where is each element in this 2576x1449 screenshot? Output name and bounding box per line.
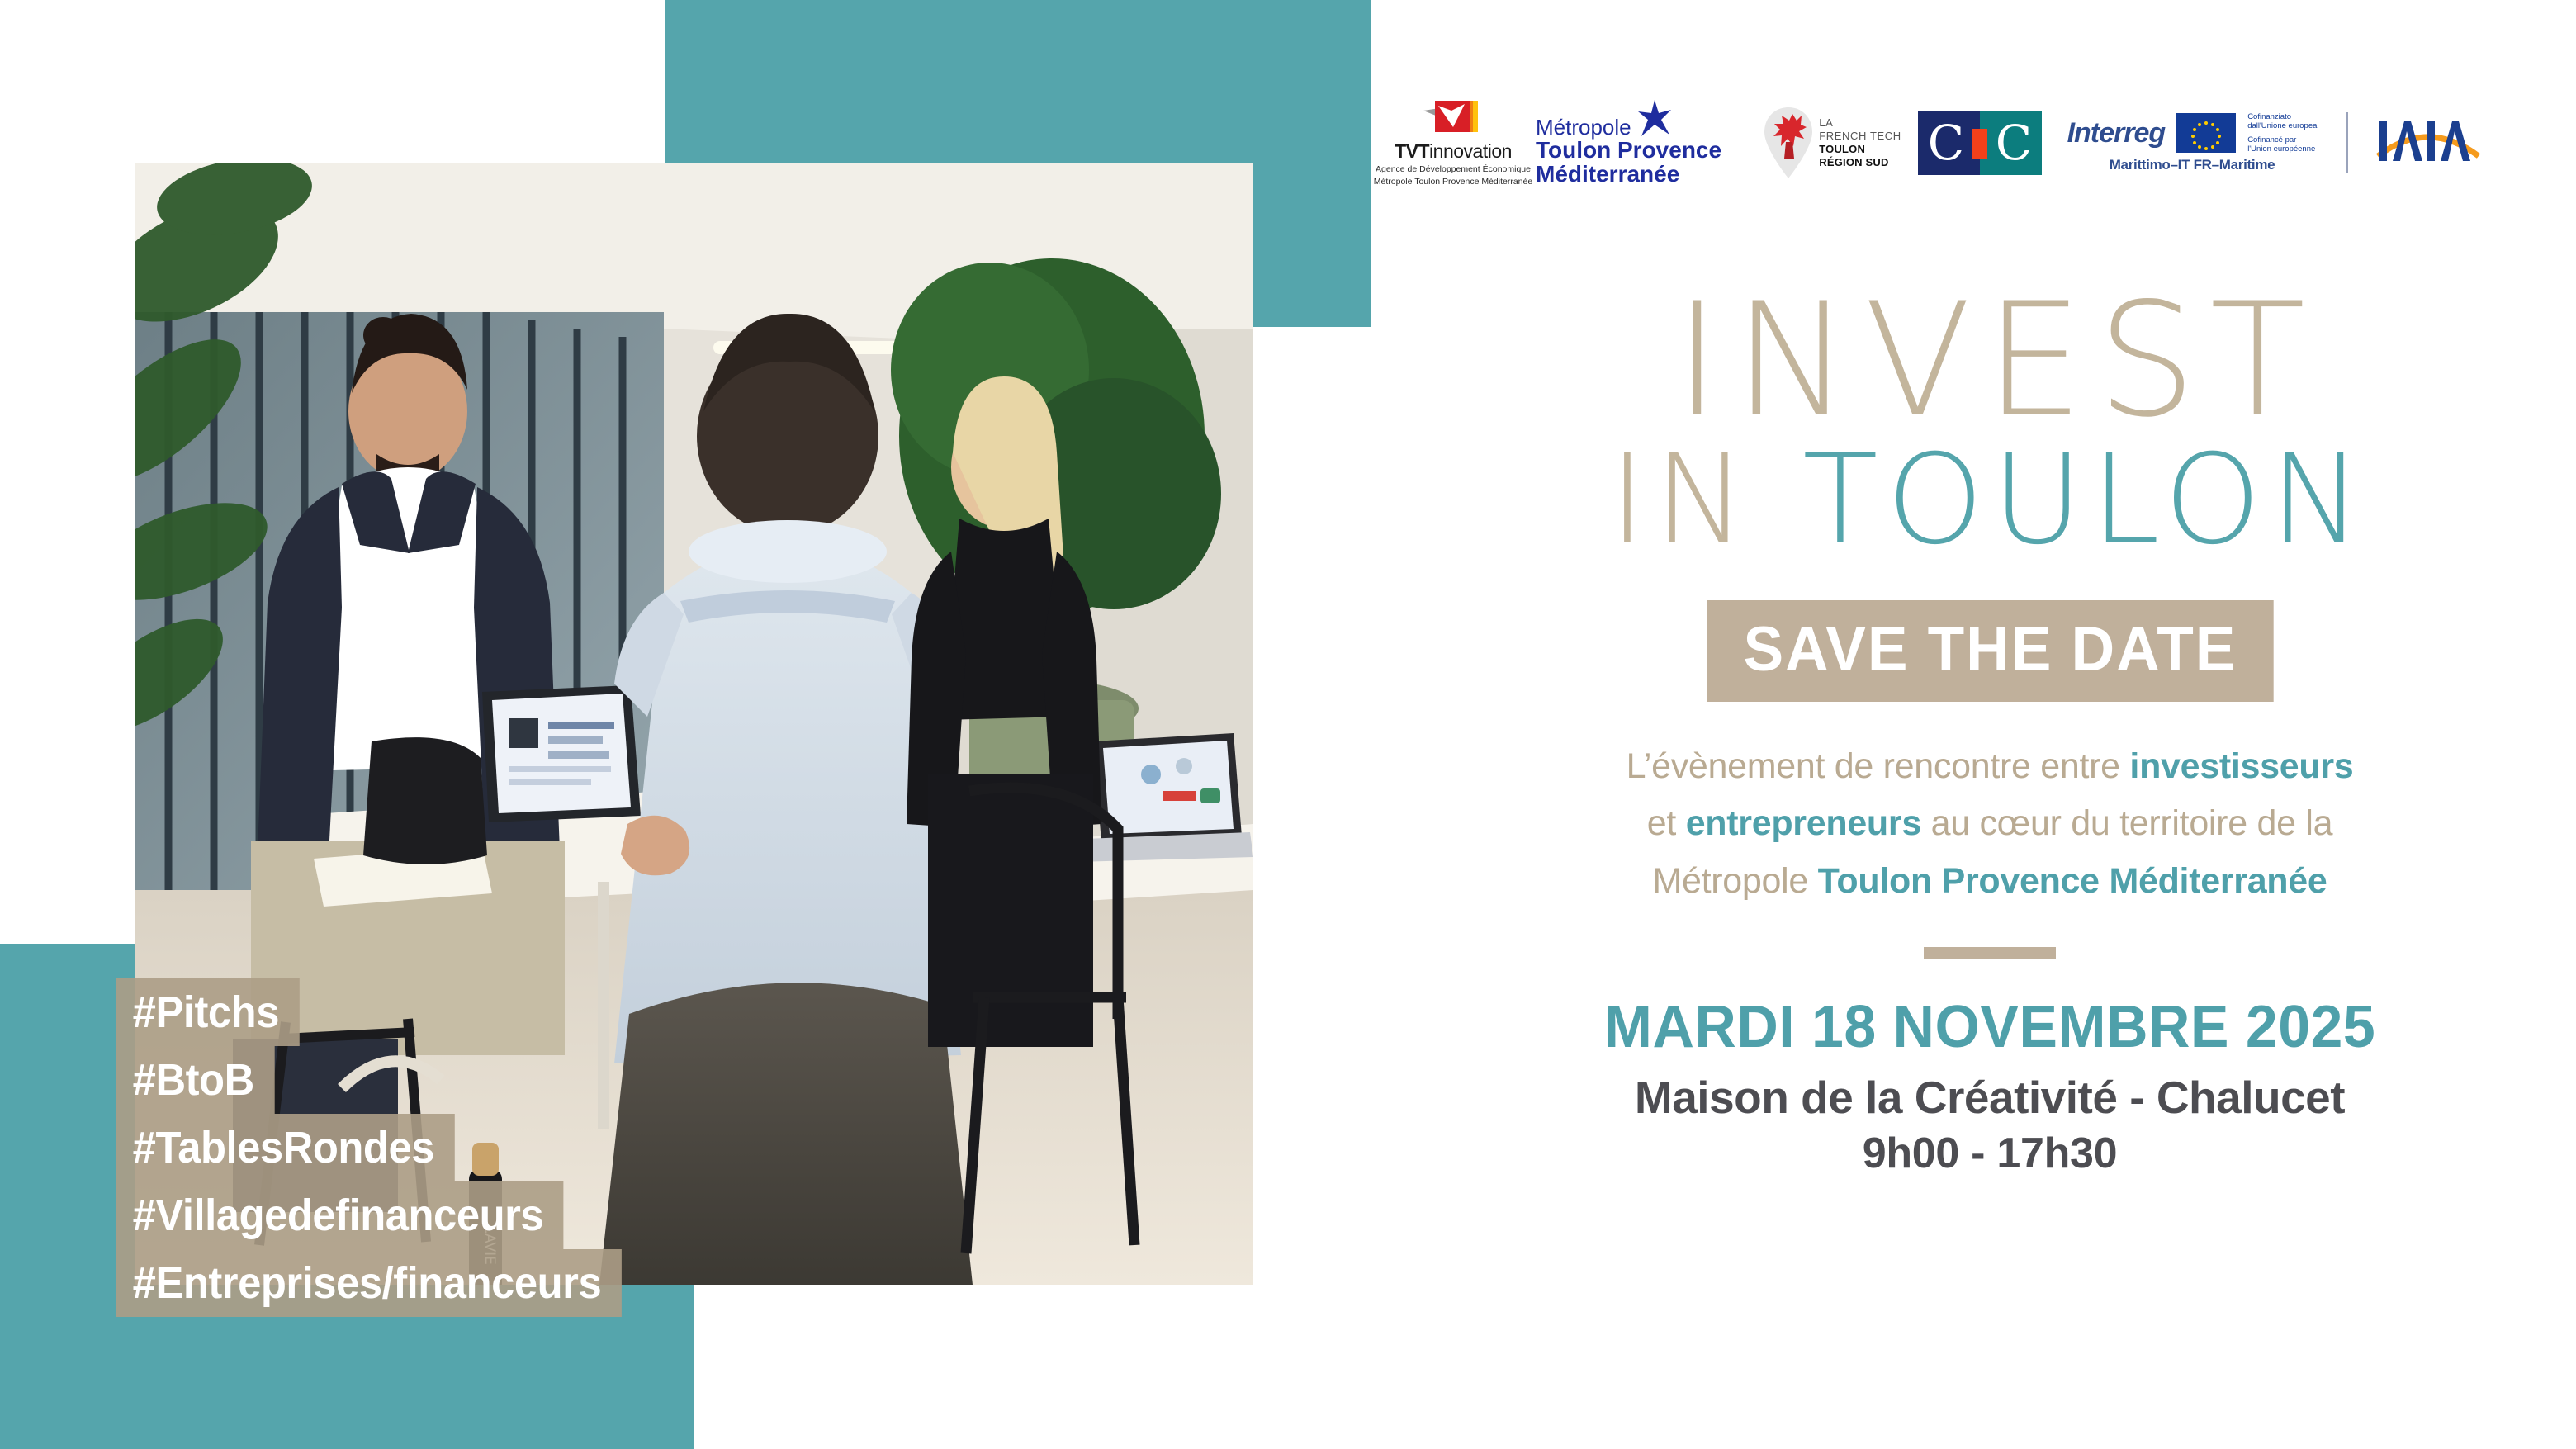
- svg-text:C: C: [1995, 115, 2031, 171]
- tvt-tagline-line1: Agence de Développement Économique: [1376, 164, 1531, 174]
- hashtag-item: #Villagedefinanceurs: [116, 1181, 564, 1249]
- description-line-2: et entrepreneurs au cœur du territoire d…: [1478, 795, 2502, 853]
- logo-interreg-marittimo: Interreg Cof: [2056, 97, 2328, 188]
- metropole-star-icon: [1638, 100, 1671, 138]
- logo-iaia: [2366, 97, 2490, 188]
- french-tech-line3: TOULON: [1819, 143, 1901, 156]
- partner-logo-bar: TVTinnovation Agence de Développement Éc…: [1371, 97, 2526, 188]
- metropole-line1: Métropole: [1536, 116, 1631, 138]
- event-hours: 9h00 - 17h30: [1478, 1129, 2502, 1178]
- french-tech-rooster-icon: [1764, 107, 1812, 178]
- description-line-1: L’évènement de rencontre entre investiss…: [1478, 738, 2502, 796]
- french-tech-line1: LA: [1819, 116, 1901, 130]
- interreg-programme-name: Marittimo–IT FR–Maritime: [2110, 157, 2275, 173]
- tvt-tagline-line2: Métropole Toulon Provence Méditerranée: [1374, 177, 1532, 187]
- iaia-logo-icon: [2375, 116, 2482, 169]
- logo-french-tech-toulon: LA FRENCH TECH TOULON RÉGION SUD: [1763, 97, 1903, 188]
- section-divider: [1924, 947, 2056, 959]
- hashtag-item: #TablesRondes: [116, 1114, 454, 1181]
- event-description: L’évènement de rencontre entre investiss…: [1478, 738, 2502, 911]
- page-title-in-toulon: IN TOULON: [1478, 438, 2502, 562]
- logo-divider: [2346, 112, 2348, 173]
- tvt-flag-icon: [1423, 99, 1483, 139]
- eu-flag-icon: [2176, 113, 2236, 153]
- logo-metropole-tpm: Métropole Toulon Provence Méditerranée: [1536, 97, 1763, 188]
- hashtag-list: #Pitchs #BtoB #TablesRondes #Villagedefi…: [116, 978, 654, 1317]
- hashtag-item: #BtoB: [116, 1046, 274, 1114]
- eu-cofunding-text: Cofinanziato dall'Unione europea Cofinan…: [2247, 112, 2317, 154]
- title-toulon-word: TOULON: [1802, 429, 2370, 572]
- page-title-invest: INVEST: [1491, 289, 2502, 433]
- hashtag-item: #Entreprises/financeurs: [116, 1249, 622, 1317]
- logo-cic: C C: [1903, 97, 2056, 188]
- description-line-3: Métropole Toulon Provence Méditerranée: [1478, 853, 2502, 911]
- svg-text:C: C: [1927, 115, 1963, 171]
- event-date: MARDI 18 NOVEMBRE 2025: [1494, 993, 2487, 1061]
- cic-logo-icon: C C: [1918, 111, 2042, 175]
- hashtag-item: #Pitchs: [116, 978, 299, 1046]
- interreg-wordmark: Interreg: [2067, 117, 2166, 149]
- poster-canvas: LAVIE #Pitchs #BtoB #TablesRondes #Villa…: [0, 0, 2576, 1449]
- logo-tvt-innovation: TVTinnovation Agence de Développement Éc…: [1371, 97, 1536, 188]
- title-in-word: IN: [1609, 429, 1754, 572]
- event-info-column: INVEST IN TOULON SAVE THE DATE L’évèneme…: [1478, 289, 2502, 1178]
- metropole-line2: Toulon Provence: [1536, 138, 1721, 162]
- event-venue: Maison de la Créativité - Chalucet: [1478, 1071, 2502, 1124]
- tvt-wordmark: TVTinnovation: [1395, 140, 1512, 163]
- metropole-line3: Méditerranée: [1536, 162, 1679, 186]
- french-tech-line2: FRENCH TECH: [1819, 130, 1901, 143]
- french-tech-line4: RÉGION SUD: [1819, 156, 1901, 169]
- save-the-date-banner: SAVE THE DATE: [1707, 600, 2273, 702]
